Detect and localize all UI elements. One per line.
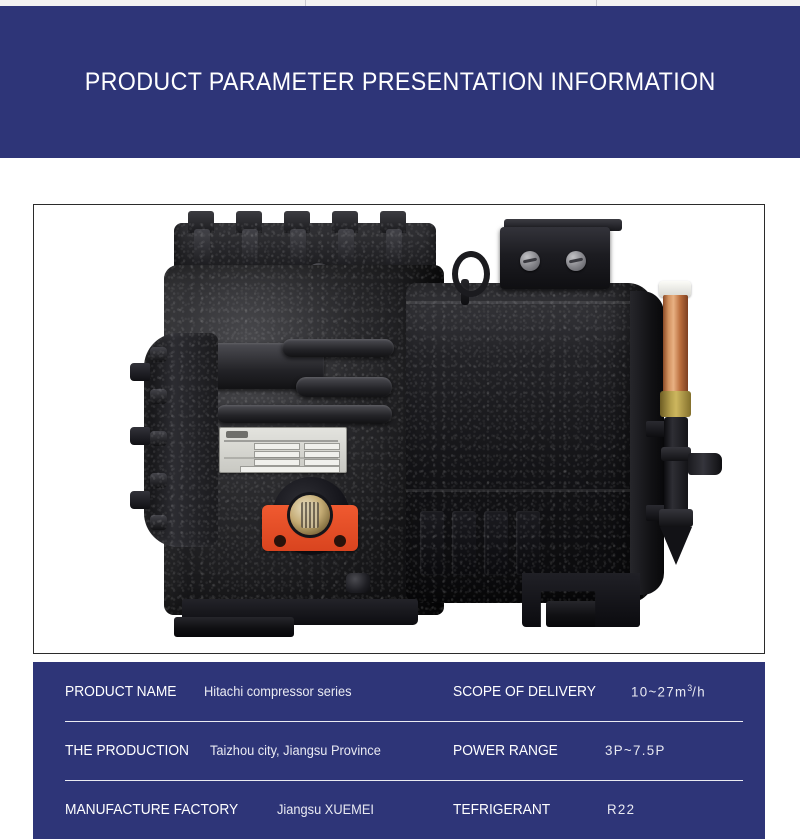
product-photo bbox=[34, 205, 764, 653]
oil-sight-glass bbox=[290, 495, 330, 535]
mounting-foot-left bbox=[174, 617, 294, 637]
spec-cell-left: THE PRODUCTION Taizhou city, Jiangsu Pro… bbox=[33, 743, 443, 759]
service-valve-body bbox=[664, 417, 688, 527]
table-row: PRODUCT NAME Hitachi compressor series S… bbox=[33, 662, 765, 721]
scope-value-main: 10~27m bbox=[631, 683, 687, 699]
spec-cell-right: TEFRIGERANT R22 bbox=[443, 801, 765, 818]
spec-value-power-range: 3P~7.5P bbox=[605, 742, 666, 758]
pipe-stub-lower bbox=[130, 491, 150, 509]
brass-collar bbox=[660, 391, 691, 417]
spec-label-scope-of-delivery: SCOPE OF DELIVERY bbox=[453, 684, 596, 700]
product-photo-frame bbox=[33, 204, 765, 654]
service-valve-cone bbox=[660, 527, 692, 565]
spec-cell-right: SCOPE OF DELIVERY 10~27m3/h bbox=[443, 683, 765, 701]
oil-drain-plug bbox=[346, 573, 370, 593]
pipe-stub-mid bbox=[130, 427, 150, 445]
page-header-band: PRODUCT PARAMETER PRESENTATION INFORMATI… bbox=[0, 6, 800, 158]
spec-label-manufacture-factory: MANUFACTURE FACTORY bbox=[65, 802, 238, 818]
page-title: PRODUCT PARAMETER PRESENTATION INFORMATI… bbox=[85, 68, 716, 97]
motor-end-cap bbox=[630, 291, 664, 595]
spec-value-tefrigerant: R22 bbox=[607, 801, 635, 817]
spec-label-product-name: PRODUCT NAME bbox=[65, 684, 176, 700]
spec-value-product-name: Hitachi compressor series bbox=[204, 684, 352, 699]
terminal-box bbox=[500, 227, 610, 289]
spec-cell-left: MANUFACTURE FACTORY Jiangsu XUEMEI bbox=[33, 802, 443, 818]
lifting-eye bbox=[452, 251, 490, 297]
spec-value-the-production: Taizhou city, Jiangsu Province bbox=[210, 743, 381, 758]
spec-value-manufacture-factory: Jiangsu XUEMEI bbox=[277, 802, 374, 817]
table-row: THE PRODUCTION Taizhou city, Jiangsu Pro… bbox=[33, 721, 765, 780]
motor-housing bbox=[406, 283, 654, 603]
spec-label-tefrigerant: TEFRIGERANT bbox=[453, 802, 550, 818]
scope-value-tail: /h bbox=[693, 683, 707, 699]
spec-label-the-production: THE PRODUCTION bbox=[65, 743, 189, 759]
bearing-end-cover bbox=[144, 333, 218, 547]
copper-suction-tube bbox=[663, 295, 688, 393]
spec-cell-right: POWER RANGE 3P~7.5P bbox=[443, 742, 765, 759]
spec-value-scope-of-delivery: 10~27m3/h bbox=[631, 683, 706, 700]
spec-label-power-range: POWER RANGE bbox=[453, 743, 558, 759]
spec-cell-left: PRODUCT NAME Hitachi compressor series bbox=[33, 684, 443, 700]
service-valve-port bbox=[688, 453, 722, 475]
specification-table: PRODUCT NAME Hitachi compressor series S… bbox=[33, 662, 765, 839]
pipe-stub-upper bbox=[130, 363, 150, 381]
table-row: MANUFACTURE FACTORY Jiangsu XUEMEI TEFRI… bbox=[33, 780, 765, 839]
nameplate bbox=[219, 427, 347, 473]
